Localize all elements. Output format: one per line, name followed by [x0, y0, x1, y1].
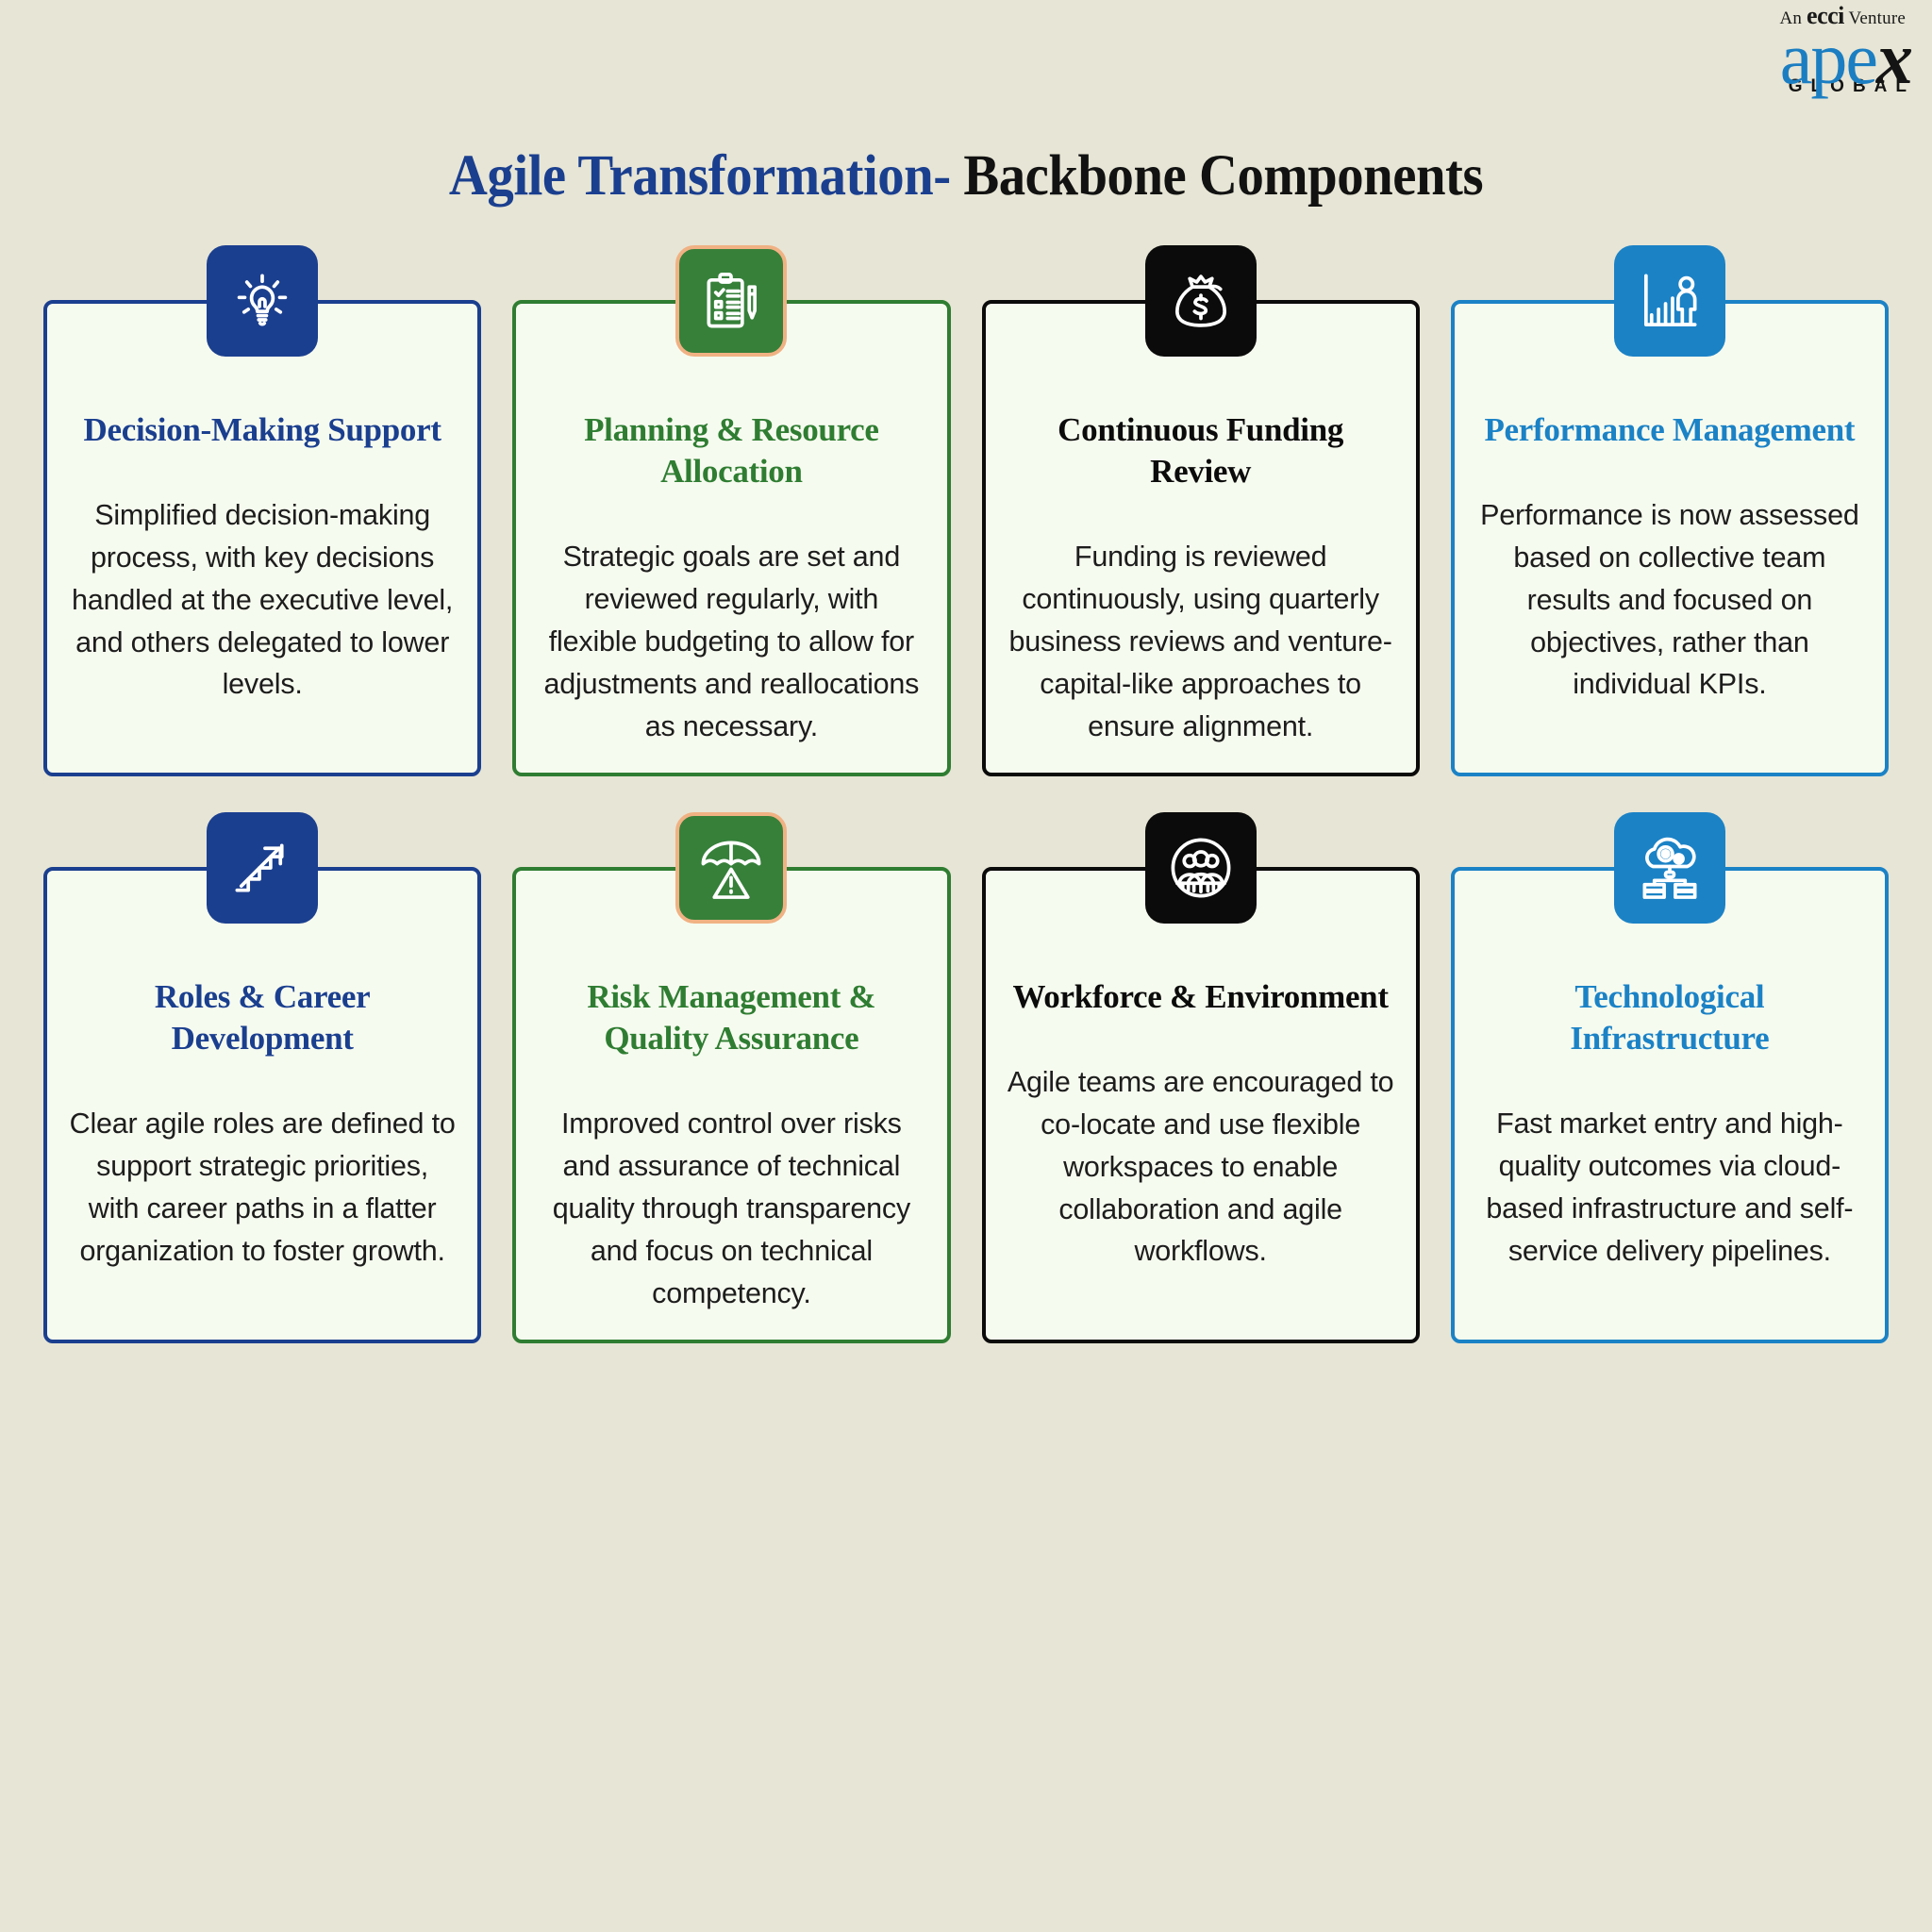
card-wrap-technological-infrastructure: Technological Infrastructure Fast market… — [1451, 867, 1889, 1343]
card-title: Workforce & Environment — [1007, 976, 1395, 1018]
card-roles-career-development[interactable]: Roles & Career Development Clear agile r… — [43, 867, 481, 1343]
card-body: Simplified decision-making process, with… — [68, 494, 457, 706]
card-icon-badge — [1614, 812, 1725, 924]
card-wrap-performance-management: Performance Management Performance is no… — [1451, 300, 1889, 776]
card-body: Performance is now assessed based on col… — [1475, 494, 1864, 706]
card-risk-management-quality-assurance[interactable]: Risk Management & Quality Assurance Impr… — [512, 867, 950, 1343]
card-wrap-continuous-funding-review: Continuous Funding Review Funding is rev… — [982, 300, 1420, 776]
page-title: Agile Transformation- Backbone Component… — [68, 143, 1865, 209]
card-wrap-decision-making-support: Decision-Making Support Simplified decis… — [43, 300, 481, 776]
page-title-highlight: Agile Transformation- — [449, 144, 951, 208]
apex-global-logo: An ecci Venture apex GLOBAL — [1600, 4, 1911, 95]
card-body: Strategic goals are set and reviewed reg… — [537, 536, 925, 747]
card-wrap-risk-management-quality-assurance: Risk Management & Quality Assurance Impr… — [512, 867, 950, 1343]
card-body: Fast market entry and high-quality outco… — [1475, 1103, 1864, 1272]
card-title: Technological Infrastructure — [1475, 976, 1864, 1059]
clipboard-checklist-pen-icon — [696, 266, 766, 336]
page-title-rest: Backbone Components — [951, 144, 1483, 208]
card-body: Improved control over risks and assuranc… — [537, 1103, 925, 1314]
card-icon-badge — [675, 812, 787, 924]
card-planning-resource-allocation[interactable]: Planning & Resource Allocation Strategic… — [512, 300, 950, 776]
bar-chart-person-icon — [1635, 266, 1705, 336]
component-card-grid: Decision-Making Support Simplified decis… — [43, 300, 1889, 1343]
card-body: Agile teams are encouraged to co-locate … — [1007, 1061, 1395, 1273]
umbrella-warning-icon — [696, 833, 766, 903]
infographic-page: An ecci Venture apex GLOBAL Agile Transf… — [0, 0, 1932, 1932]
card-performance-management[interactable]: Performance Management Performance is no… — [1451, 300, 1889, 776]
card-title: Performance Management — [1475, 409, 1864, 451]
people-group-circle-icon — [1166, 833, 1236, 903]
card-technological-infrastructure[interactable]: Technological Infrastructure Fast market… — [1451, 867, 1889, 1343]
card-body: Clear agile roles are defined to support… — [68, 1103, 457, 1272]
card-wrap-planning-resource-allocation: Planning & Resource Allocation Strategic… — [512, 300, 950, 776]
money-bag-icon — [1166, 266, 1236, 336]
lightbulb-icon — [227, 266, 297, 336]
card-wrap-workforce-environment: Workforce & Environment Agile teams are … — [982, 867, 1420, 1343]
stairs-arrow-up-icon — [227, 833, 297, 903]
logo-wordmark-apex: ape — [1780, 17, 1876, 99]
card-body: Funding is reviewed continuously, using … — [1007, 536, 1395, 747]
card-continuous-funding-review[interactable]: Continuous Funding Review Funding is rev… — [982, 300, 1420, 776]
card-icon-badge — [1145, 812, 1257, 924]
cloud-gears-servers-icon — [1635, 833, 1705, 903]
card-title: Roles & Career Development — [68, 976, 457, 1059]
card-title: Decision-Making Support — [68, 409, 457, 451]
card-title: Planning & Resource Allocation — [537, 409, 925, 492]
card-icon-badge — [1145, 245, 1257, 357]
card-wrap-roles-career-development: Roles & Career Development Clear agile r… — [43, 867, 481, 1343]
card-icon-badge — [1614, 245, 1725, 357]
logo-wordmark-x: x — [1876, 17, 1909, 99]
card-title: Continuous Funding Review — [1007, 409, 1395, 492]
card-icon-badge — [207, 245, 318, 357]
card-title: Risk Management & Quality Assurance — [537, 976, 925, 1059]
card-icon-badge — [675, 245, 787, 357]
card-icon-badge — [207, 812, 318, 924]
card-workforce-environment[interactable]: Workforce & Environment Agile teams are … — [982, 867, 1420, 1343]
card-decision-making-support[interactable]: Decision-Making Support Simplified decis… — [43, 300, 481, 776]
logo-wordmark: apex — [1600, 25, 1909, 92]
